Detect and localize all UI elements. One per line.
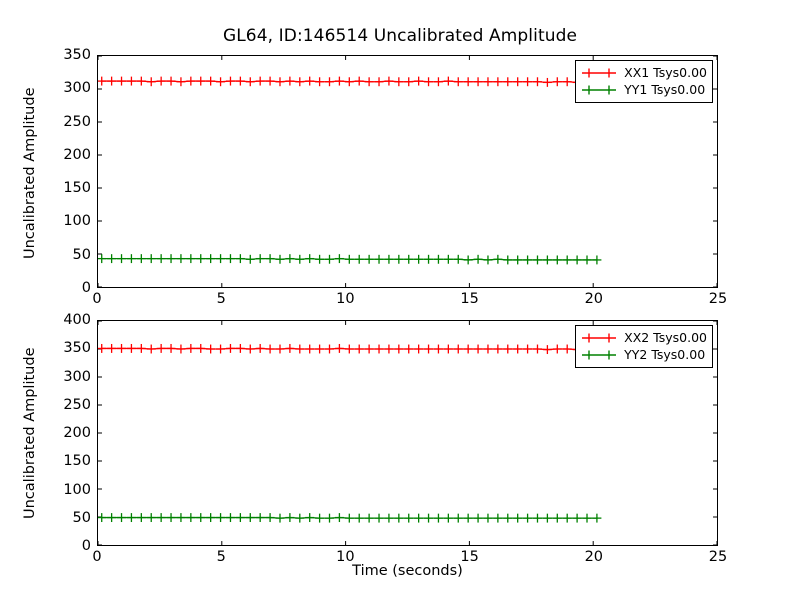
x-tick-label: 20 (585, 292, 603, 307)
y-tick-label: 400 (47, 313, 91, 328)
data-markers-yy (98, 513, 601, 522)
y-axis-ticklabels-bottom: 050100150200250300350400 (45, 0, 91, 600)
x-tick-label: 10 (336, 292, 354, 307)
y-tick-label: 250 (47, 398, 91, 413)
x-tick-label: 25 (709, 292, 727, 307)
legend-line-sample-yy2 (581, 349, 617, 361)
y-axis-label-top: Uncalibrated Amplitude (22, 88, 38, 260)
plot-area-bottom: XX2 Tsys0.00 YY2 Tsys0.00 (97, 320, 718, 546)
y-tick-label: 300 (47, 370, 91, 385)
x-tick-label: 0 (92, 292, 101, 307)
legend-line-sample-xx1 (581, 67, 617, 79)
legend-top: XX1 Tsys0.00 YY1 Tsys0.00 (575, 60, 713, 103)
matplotlib-figure: GL64, ID:146514 Uncalibrated Amplitude U… (0, 0, 800, 600)
y-tick-label: 350 (47, 341, 91, 356)
figure-title: GL64, ID:146514 Uncalibrated Amplitude (0, 26, 800, 46)
y-tick-label: 0 (47, 539, 91, 554)
x-axis-label: Time (seconds) (97, 563, 718, 579)
legend-bottom: XX2 Tsys0.00 YY2 Tsys0.00 (575, 325, 713, 368)
legend-line-sample-yy1 (581, 84, 617, 96)
legend-label-yy1: YY1 Tsys0.00 (624, 82, 705, 97)
legend-label-yy2: YY2 Tsys0.00 (624, 347, 705, 362)
plot-area-top: XX1 Tsys0.00 YY1 Tsys0.00 (97, 55, 718, 288)
legend-entry: XX1 Tsys0.00 (581, 64, 707, 81)
data-markers-yy (98, 254, 601, 264)
x-tick-label: 5 (217, 292, 226, 307)
legend-entry: YY2 Tsys0.00 (581, 346, 707, 363)
legend-label-xx2: XX2 Tsys0.00 (624, 330, 707, 345)
legend-label-xx1: XX1 Tsys0.00 (624, 65, 707, 80)
y-tick-label: 200 (47, 426, 91, 441)
y-tick-label: 100 (47, 483, 91, 498)
legend-line-sample-xx2 (581, 332, 617, 344)
y-tick-label: 50 (47, 511, 91, 526)
y-axis-label-bottom: Uncalibrated Amplitude (22, 348, 38, 520)
data-markers-xx (98, 344, 601, 354)
x-axis-ticklabels-top: 0510152025 (97, 292, 718, 312)
y-tick-label: 150 (47, 454, 91, 469)
legend-entry: XX2 Tsys0.00 (581, 329, 707, 346)
legend-entry: YY1 Tsys0.00 (581, 81, 707, 98)
x-tick-label: 15 (460, 292, 478, 307)
